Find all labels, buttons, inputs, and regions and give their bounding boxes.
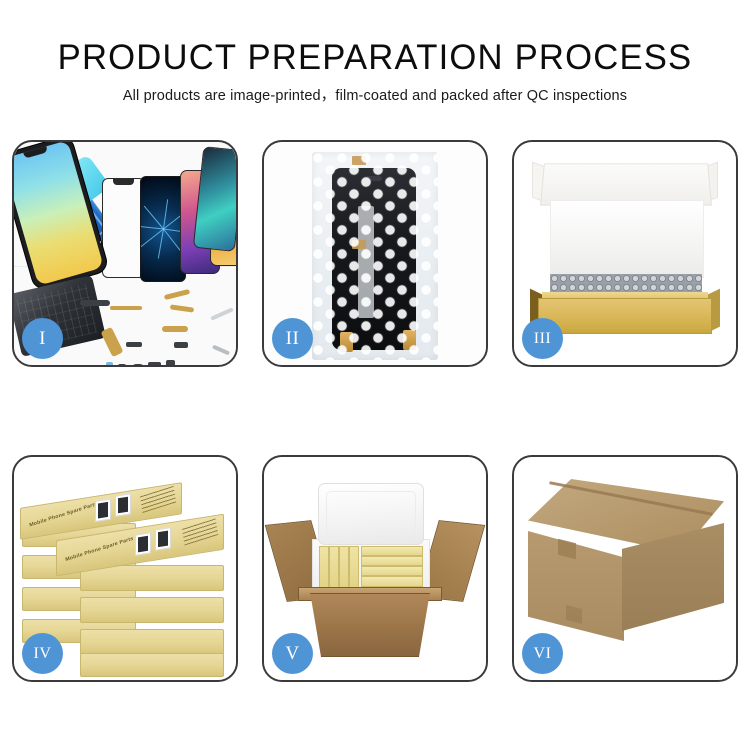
product-preparation-page: PRODUCT PREPARATION PROCESS All products… <box>0 0 750 750</box>
screen-photo-graphic <box>95 498 111 522</box>
yellow-box <box>349 546 359 588</box>
step-badge-6: VI <box>522 633 563 674</box>
step-badge-3: III <box>522 318 563 359</box>
retail-box <box>80 629 224 655</box>
white-foam-sheet-graphic <box>550 200 704 278</box>
yellow-box <box>361 566 423 576</box>
kraft-box-front <box>538 298 712 334</box>
process-step-panel-3[interactable]: III <box>512 140 738 367</box>
yellow-box <box>361 576 423 587</box>
screen-photo-graphic <box>155 527 171 551</box>
step-badge-1: I <box>22 318 63 359</box>
process-step-panel-4[interactable]: Mobile Phone Spare Parts Mobile Phone Sp… <box>12 455 238 682</box>
small-part-graphic <box>148 362 161 365</box>
process-step-panel-5[interactable]: V <box>262 455 488 682</box>
process-step-panel-2[interactable]: II <box>262 140 488 367</box>
spec-lines-graphic <box>182 518 218 546</box>
yellow-box <box>361 556 423 566</box>
small-part-graphic <box>126 342 142 347</box>
bubble-bag-graphic <box>312 152 438 360</box>
retail-box-brand-text: Mobile Phone Spare Parts <box>65 536 134 563</box>
small-part-graphic <box>132 364 144 365</box>
screen-photo-graphic <box>115 493 131 517</box>
yellow-box <box>329 546 339 588</box>
small-part-graphic <box>166 360 175 365</box>
process-steps-grid: I II <box>12 140 738 682</box>
page-header: PRODUCT PREPARATION PROCESS All products… <box>0 0 750 105</box>
small-part-graphic <box>80 300 110 306</box>
yellow-box <box>319 546 329 588</box>
screen-photo-graphic <box>135 532 151 556</box>
page-subtitle: All products are image-printed，film-coat… <box>0 87 750 105</box>
flex-cable-graphic <box>162 326 188 332</box>
flex-cable-graphic <box>110 306 142 310</box>
retail-box <box>80 653 224 677</box>
retail-box-brand-text: Mobile Phone Spare Parts <box>29 501 98 528</box>
carton-front <box>302 593 438 657</box>
white-front-glass-graphic <box>102 178 145 278</box>
small-part-graphic <box>118 364 126 365</box>
foam-case-graphic <box>312 539 430 593</box>
foam-case-lid <box>318 483 424 545</box>
step-badge-2: II <box>272 318 313 359</box>
process-step-panel-1[interactable]: I <box>12 140 238 367</box>
step-badge-4: IV <box>22 633 63 674</box>
page-title: PRODUCT PREPARATION PROCESS <box>4 38 747 78</box>
yellow-box <box>361 546 423 556</box>
yellow-box <box>339 546 349 588</box>
step-badge-5: V <box>272 633 313 674</box>
small-part-graphic <box>174 342 188 348</box>
spec-lines-graphic <box>140 485 176 513</box>
retail-box <box>80 597 224 623</box>
small-part-graphic <box>106 362 113 365</box>
process-step-panel-6[interactable]: VI <box>512 455 738 682</box>
